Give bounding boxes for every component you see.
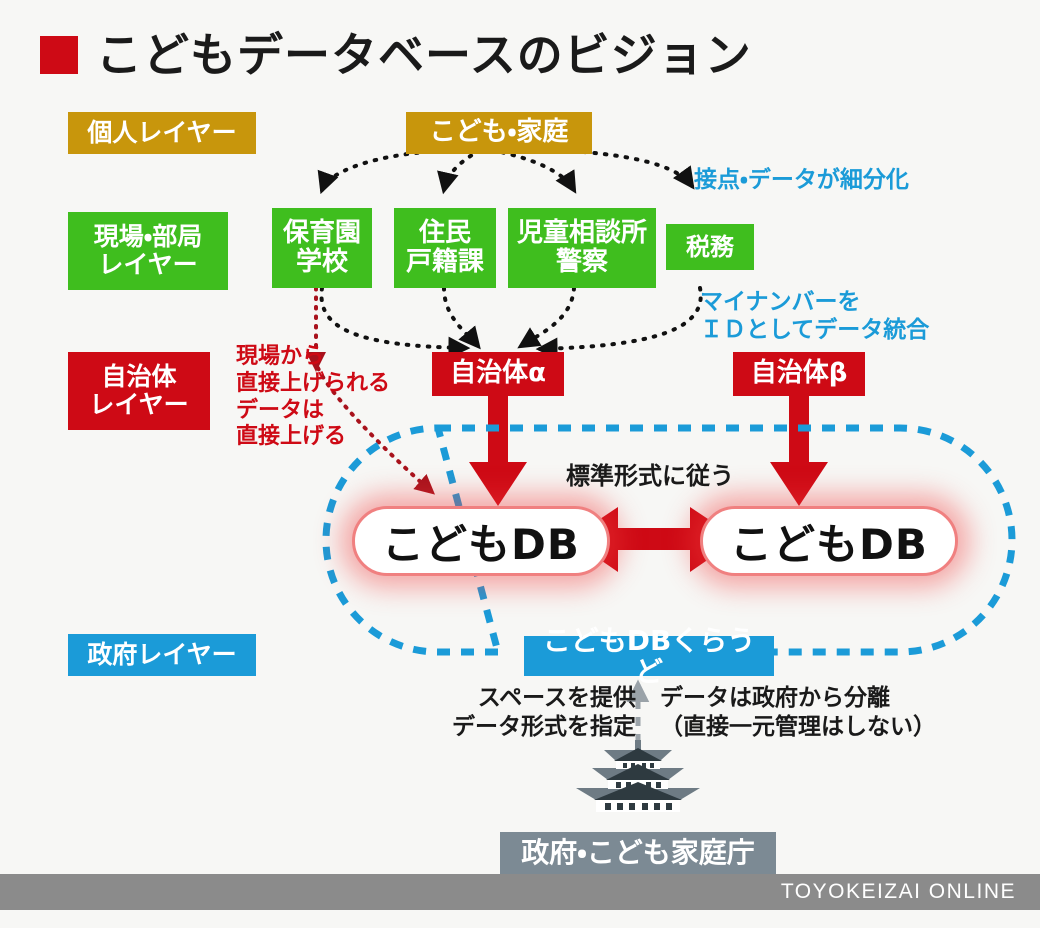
layer-chip-municipal: 自治体 レイヤー — [68, 352, 210, 430]
title-text: こどもデータベースのビジョン — [96, 32, 752, 78]
title-square-marker — [40, 36, 78, 74]
dotted-arrows-frontline-to-municipality-alpha — [321, 288, 700, 349]
annotation-mynumber-integration: マイナンバーを ＩＤとしてデータ統合 — [700, 288, 929, 344]
node-child-consultation-police[interactable]: 児童相談所 警察 — [508, 208, 656, 288]
node-tax-office[interactable]: 税務 — [666, 224, 754, 270]
node-child-db-left[interactable]: こどもDB — [352, 506, 610, 576]
dotted-arrows-family-to-frontline — [322, 148, 692, 190]
node-municipality-alpha[interactable]: 自治体α — [432, 352, 564, 396]
arrow-municipality-alpha-to-db — [469, 386, 527, 506]
node-child-db-cloud[interactable]: こどもDBくらうど — [524, 636, 774, 676]
node-child-family[interactable]: こども・家庭 — [406, 112, 592, 154]
layer-chip-government: 政府レイヤー — [68, 634, 256, 676]
page-title: こどもデータベースのビジョン — [40, 32, 752, 78]
node-resident-family-registry[interactable]: 住民 戸籍課 — [394, 208, 496, 288]
node-child-db-right[interactable]: こどもDB — [700, 506, 958, 576]
layer-chip-frontline: 現場・部局 レイヤー — [68, 212, 228, 290]
arrow-municipality-beta-to-db — [770, 386, 828, 506]
node-municipality-beta[interactable]: 自治体β — [733, 352, 865, 396]
annotation-direct-upload: 現場から 直接上げられる データは 直接上げる — [236, 344, 390, 451]
annotation-provides-space: スペースを提供 データ形式を指定 — [440, 684, 636, 742]
annotation-data-separated: データは政府から分離 （直接一元管理はしない） — [660, 684, 960, 742]
footer-brand: TOYOKEIZAI ONLINE — [781, 880, 1040, 904]
node-nursery-school[interactable]: 保育園 学校 — [272, 208, 372, 288]
layer-chip-personal: 個人レイヤー — [68, 112, 256, 154]
annotation-standard-format: 標準形式に従う — [566, 462, 734, 491]
castle-icon — [576, 740, 700, 812]
node-government-childrens-agency[interactable]: 政府・こども家庭庁 — [500, 832, 776, 874]
infographic-canvas: こどもデータベースのビジョン — [0, 0, 1040, 928]
footer-bar: TOYOKEIZAI ONLINE — [0, 874, 1040, 910]
annotation-fragmented-contacts: 接点・データが細分化 — [694, 166, 909, 194]
